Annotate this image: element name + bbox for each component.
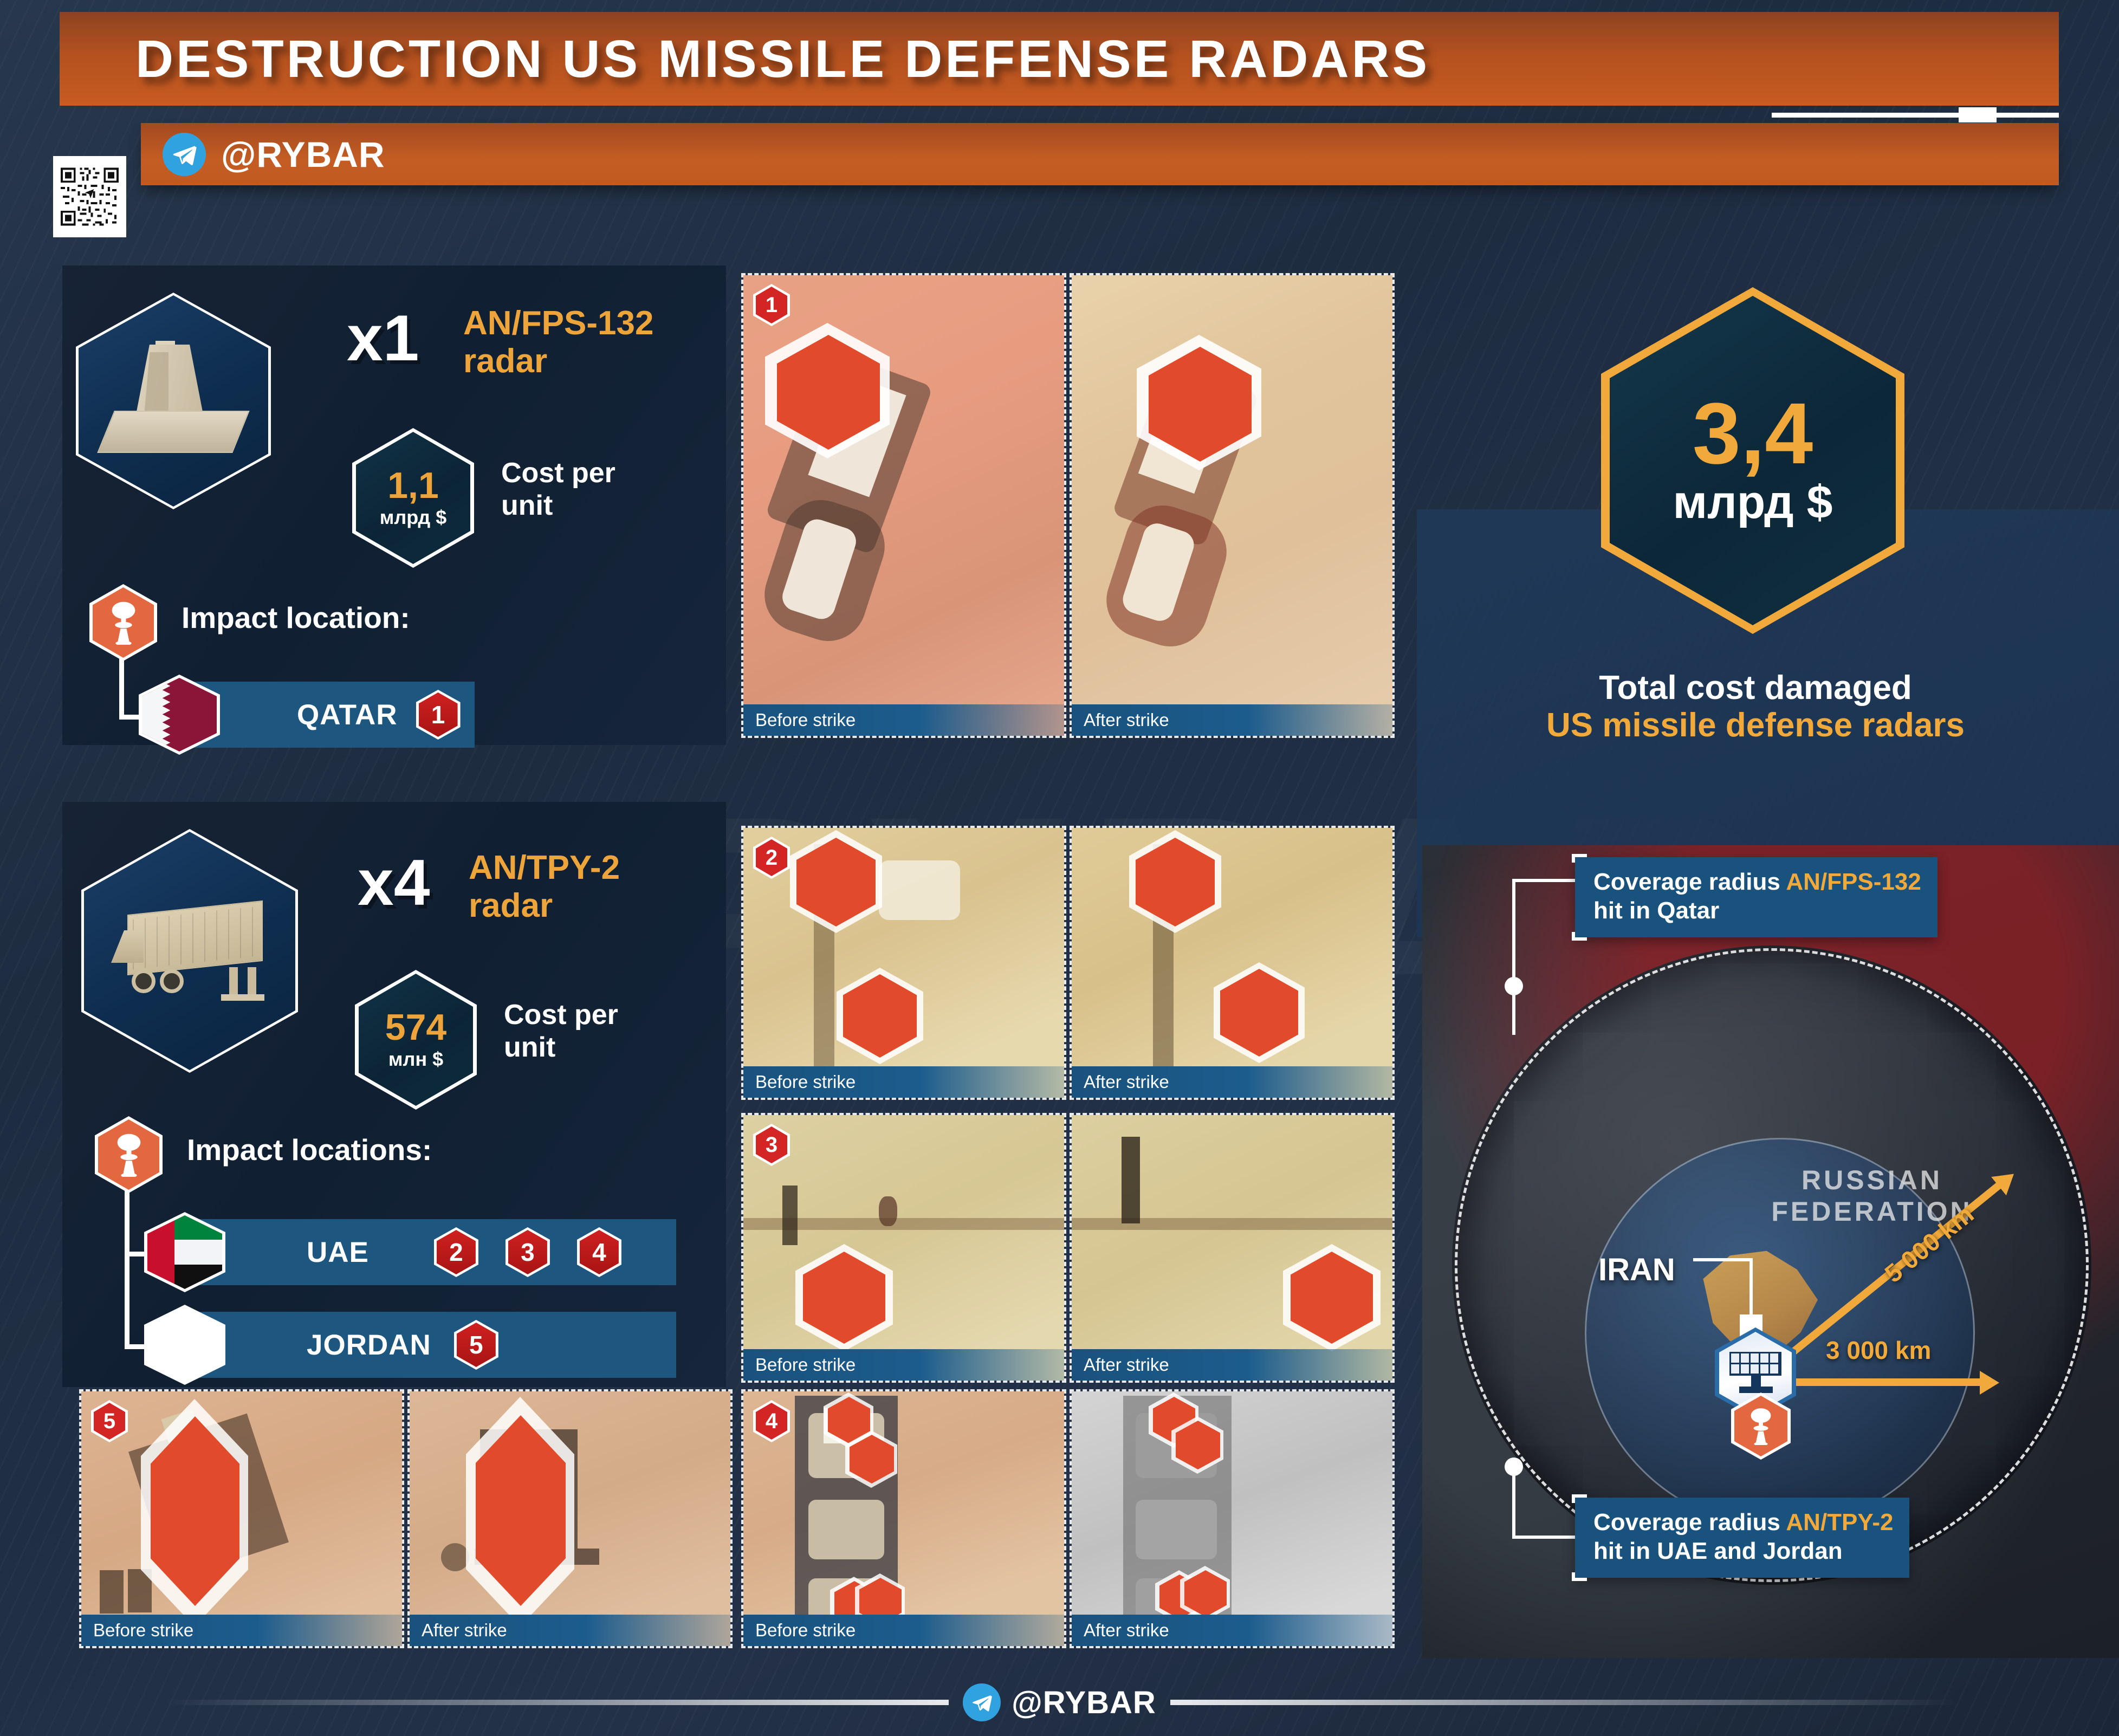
satellite-tile-2-after[interactable]: After strike [1072,828,1392,1098]
channel-handle[interactable]: @RYBAR [221,134,385,175]
caption-after-5: After strike [410,1615,730,1646]
marker-number-1: 1 [419,692,458,737]
satellite-tile-5-before[interactable]: 5 Before strike [81,1391,402,1646]
total-caption-line1: Total cost damaged [1512,669,1999,707]
tile-marker-2: 2 [753,837,790,879]
tile-marker-number-4: 4 [756,1403,787,1440]
cost-unit-tpy2: млн $ [388,1048,443,1071]
tile-marker-4: 4 [753,1400,790,1442]
marker-hex-4: 4 [577,1227,621,1277]
radar-name-fps132-line1: AN/FPS-132 [463,306,653,340]
arrow-3000km [1783,1376,1999,1387]
impact-title-tpy2: Impact locations: [187,1132,432,1167]
count-tpy2: x4 [358,845,430,920]
satellite-tile-3-after[interactable]: After strike [1072,1115,1392,1381]
radar-name-fps132-line2: radar [463,344,547,378]
coverage-map[interactable]: RUSSIAN FEDERATION IRAN 5 000 km 3 000 k… [1422,845,2119,1658]
satellite-tile-2-before[interactable]: 2 Before strike [743,828,1064,1098]
callout-tpy2-line2: hit in UAE and Jordan [1593,1537,1893,1566]
label-3000km: 3 000 km [1826,1336,1931,1365]
tile-marker-number-5: 5 [94,1403,125,1440]
caption-before-3: Before strike [743,1349,1064,1381]
image-pair-5: 5 Before strike After strike [81,1391,730,1646]
total-caption: Total cost damaged US missile defense ra… [1512,669,1999,744]
cost-label-tpy2-l2: unit [504,1032,555,1063]
satellite-tile-5-after[interactable]: After strike [410,1391,730,1646]
total-unit: млрд $ [1673,476,1833,529]
qr-code-icon[interactable] [53,156,126,237]
header-bar: DESTRUCTION US MISSILE DEFENSE RADARS [60,12,2059,106]
image-pair-4: 4 Before strike After strike [743,1391,1392,1646]
callout-top-lead-h [1512,879,1577,882]
iran-leader-line-v [1749,1258,1753,1318]
cost-label-fps132-l2: unit [501,490,553,521]
image-pair-2: 2 Before strike After strike [743,828,1392,1098]
caption-after-2: After strike [1072,1066,1392,1098]
callout-fps132: Coverage radius AN/FPS-132 hit in Qatar [1575,857,1937,937]
marker-number-4: 4 [580,1230,619,1274]
tile-marker-number-3: 3 [756,1126,787,1163]
callout-top-lead-v2 [1512,879,1515,985]
tile-marker-1: 1 [753,284,790,326]
caption-after-1: After strike [1072,704,1392,736]
footer: @RYBAR [0,1669,2119,1736]
marker-hex-2: 2 [434,1227,478,1277]
satellite-tile-4-before[interactable]: 4 Before strike [743,1391,1064,1646]
tile-marker-number-1: 1 [756,287,787,323]
cost-unit-fps132: млрд $ [380,506,446,529]
callout-bottom-lead-h [1512,1536,1577,1539]
callout-fps132-line2: hit in Qatar [1593,897,1921,925]
country-row-uae: UAE 2 3 4 [194,1219,676,1285]
marker-number-5: 5 [457,1323,496,1367]
marker-number-3: 3 [508,1230,547,1274]
cost-value-tpy2: 574 [385,1009,446,1046]
footer-rule-left [163,1700,949,1705]
tile-marker-3: 3 [753,1124,790,1166]
callout-fps132-line1: Coverage radius AN/FPS-132 [1593,868,1921,897]
satellite-tile-3-before[interactable]: 3 Before strike [743,1115,1064,1381]
tpy2-illustration [111,897,268,1005]
country-row-jordan: JORDAN 5 [194,1312,676,1378]
caption-before-5: Before strike [81,1615,402,1646]
footer-rule-right [1170,1700,1956,1705]
channel-bar: @RYBAR [141,123,2059,185]
telegram-icon-footer [963,1683,1001,1721]
marker-number-2: 2 [437,1230,476,1274]
page-title: DESTRUCTION US MISSILE DEFENSE RADARS [135,29,1430,89]
callout-tpy2: Coverage radius AN/TPY-2 hit in UAE and … [1575,1498,1909,1578]
caption-before-1: Before strike [743,704,1064,736]
telegram-icon [163,133,206,176]
caption-before-2: Before strike [743,1066,1064,1098]
callout-top-lead-v [1512,983,1515,1035]
country-row-qatar: QATAR 1 [189,682,475,748]
map-country-iran: IRAN [1598,1252,1675,1288]
total-value: 3,4 [1693,392,1813,475]
header-divider [60,106,2059,123]
marker-hex-5: 5 [454,1320,498,1370]
footer-channel: @RYBAR [1012,1685,1156,1721]
marker-hex-1: 1 [416,690,461,740]
marker-hex-3: 3 [506,1227,550,1277]
cost-label-fps132-l1: Cost per [501,458,615,488]
radar-name-tpy2-line2: radar [469,889,553,923]
country-name-uae: UAE [307,1236,369,1269]
cost-value-fps132: 1,1 [387,467,439,504]
satellite-tile-1-before[interactable]: 1 Before strike [743,275,1064,736]
caption-after-4: After strike [1072,1615,1392,1646]
tile-marker-5: 5 [91,1400,128,1442]
footer-brand[interactable]: @RYBAR [949,1683,1170,1721]
total-caption-line2: US missile defense radars [1512,707,1999,744]
satellite-tile-4-after[interactable]: After strike [1072,1391,1392,1646]
header-divider-nub [1959,107,1997,122]
tile-marker-number-2: 2 [756,839,787,876]
callout-bottom-lead-v [1512,1466,1515,1539]
image-pair-3: 3 Before strike After strike [743,1115,1392,1381]
radar-name-tpy2-line1: AN/TPY-2 [469,851,620,885]
country-name-jordan: JORDAN [307,1329,431,1362]
cost-label-tpy2-l1: Cost per [504,1000,618,1030]
satellite-tile-1-after[interactable]: After strike [1072,275,1392,736]
caption-before-4: Before strike [743,1615,1064,1646]
callout-tpy2-line1: Coverage radius AN/TPY-2 [1593,1508,1893,1537]
image-pair-1: 1 Before strike After strike [743,275,1392,736]
iran-leader-line-h [1693,1258,1753,1261]
caption-after-3: After strike [1072,1349,1392,1381]
country-name-qatar: QATAR [297,698,398,731]
count-fps132: x1 [347,301,419,375]
header-divider-line [1772,113,2059,118]
impact-title-fps132: Impact location: [182,600,410,635]
fps132-illustration [106,343,241,459]
